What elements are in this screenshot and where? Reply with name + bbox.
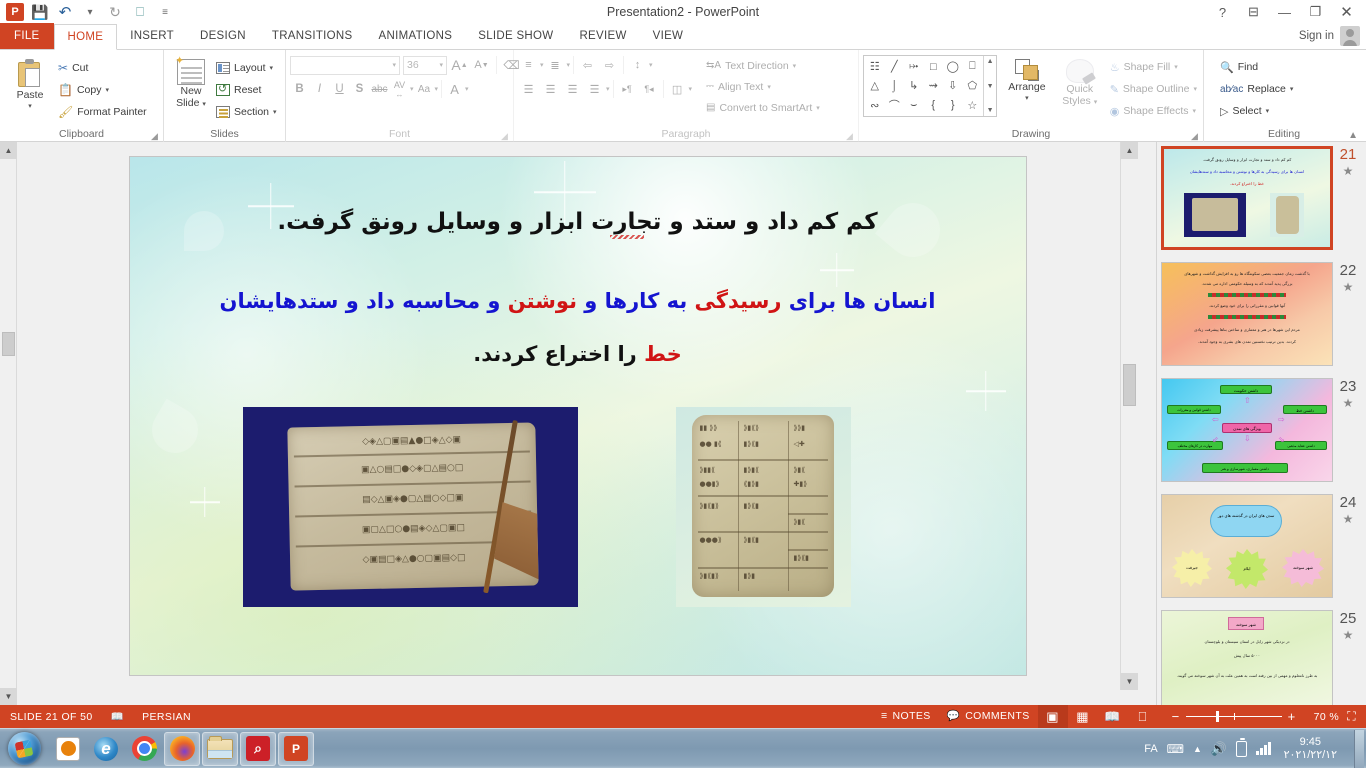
minimize-icon[interactable]: —	[1269, 1, 1300, 23]
thumb23-box-6: داشتن معماری، شهرسازی و هنر	[1202, 463, 1288, 473]
font-color-dropdown-icon[interactable]: ▾	[465, 85, 469, 93]
tab-home[interactable]: HOME	[54, 24, 118, 50]
comments-button[interactable]: 💬 COMMENTS	[939, 705, 1038, 728]
thumb23-arrow-left: ⇦	[1212, 415, 1219, 424]
slide-canvas[interactable]: کم کم داد و ستد و تجارت ابزار و وسایل رو…	[130, 157, 1026, 675]
taskbar-items: e ⌕ P	[50, 732, 314, 766]
character-spacing-dropdown-icon[interactable]: ▾	[410, 85, 414, 93]
oval-shape-icon[interactable]: ◯	[947, 60, 959, 73]
align-text-dropdown-icon[interactable]: ▾	[767, 83, 771, 91]
drawing-label-text: Drawing	[1012, 128, 1051, 140]
sign-in-area[interactable]: Sign in	[1299, 26, 1366, 49]
comments-label: COMMENTS	[965, 705, 1029, 728]
convert-smartart-label: Convert to SmartArt	[719, 102, 812, 114]
paste-label: Paste	[17, 89, 44, 101]
spellcheck-error-icon[interactable]: 📖	[111, 710, 124, 723]
line2-part-c: و محاسبه داد و ستدهایشان	[220, 289, 508, 313]
shape-fill-label: Shape Fill	[1124, 61, 1171, 73]
text-direction-icon: ⇆A	[706, 60, 721, 71]
quick-styles-label-2-row: Styles ▾	[1062, 95, 1097, 109]
layout-icon	[216, 62, 230, 74]
thumb22-line-2: بزرگی پدید آمدند که به وسیله حکومتی ادار…	[1165, 281, 1329, 287]
close-icon[interactable]: ✕	[1331, 1, 1362, 23]
slide-area-scrollbar[interactable]: ▲ ▼	[1120, 142, 1137, 690]
tray-battery-icon[interactable]	[1236, 741, 1247, 757]
paste-dropdown-icon[interactable]: ▾	[28, 101, 32, 113]
zoom-out-button[interactable]: −	[1166, 710, 1186, 723]
thumbnail-frame[interactable]: کم کم داد و ستد و تجارت ابزار و وسایل رو…	[1161, 146, 1333, 250]
bullets-dropdown-icon[interactable]: ▾	[540, 61, 544, 69]
thumb21-line-1: کم کم داد و ستد و تجارت ابزار و وسایل رو…	[1167, 157, 1327, 163]
layout-button[interactable]: Layout ▾	[214, 57, 279, 79]
drawing-dialog-launcher-icon[interactable]: ◢	[1190, 132, 1199, 141]
section-label: Section	[234, 106, 269, 118]
slide-text-body[interactable]: کم کم داد و ستد و تجارت ابزار و وسایل رو…	[164, 205, 992, 371]
layout-label: Layout	[234, 62, 266, 74]
shapes-gallery-scrollbar[interactable]: ▲ ▼ ▼	[983, 56, 996, 116]
thumbnail-23-number: 23	[1340, 378, 1357, 395]
font-size-dropdown-icon[interactable]: ▾	[439, 61, 443, 69]
paintbrush-icon: 🖌	[58, 106, 73, 118]
new-slide-button[interactable]: ✦ New Slide ▾	[168, 53, 214, 111]
slide-line-1: کم کم داد و ستد و تجارت ابزار و وسایل رو…	[164, 205, 992, 240]
thumb25-line-1: در نزدیکی شهر زابل در استان سیستان و بلو…	[1165, 639, 1329, 645]
taskbar-adobe-reader-icon[interactable]: ⌕	[240, 732, 276, 766]
font-name-input[interactable]: ▾	[290, 56, 400, 75]
slide-line-2: انسان ها برای رسیدگی به کارها و نوشتن و …	[164, 286, 992, 318]
scribble-shape-icon[interactable]: ∾	[870, 99, 879, 112]
spelling-squiggle	[610, 235, 644, 239]
decrease-indent-icon[interactable]: ⇦	[577, 55, 598, 75]
ribbon-group-font: ▾ 36 ▾ A▲ A▼ ⌫ B I U S abc	[286, 50, 514, 142]
normal-view-icon[interactable]: ▣	[1038, 705, 1068, 728]
thumb25-line-3: به طرز نامعلوم و مهمی از بین رفته است به…	[1165, 673, 1329, 679]
slides-label-text: Slides	[210, 128, 239, 140]
window-title: Presentation2 - PowerPoint	[0, 0, 1366, 24]
ribbon-display-options-icon[interactable]: ⊟	[1238, 1, 1269, 23]
thumbnail-25-number: 25	[1340, 610, 1357, 627]
shape-outline-dropdown-icon[interactable]: ▾	[1193, 85, 1197, 93]
underline-button[interactable]: U	[330, 79, 349, 99]
slide-editing-area[interactable]: کم کم داد و ستد و تجارت ابزار و وسایل رو…	[18, 142, 1137, 690]
smartart-dropdown-icon[interactable]: ▾	[816, 104, 820, 112]
show-desktop-button[interactable]	[1354, 730, 1364, 768]
reset-label: Reset	[234, 84, 261, 96]
arrange-label: Arrange	[1008, 81, 1045, 93]
tab-file[interactable]: FILE	[0, 23, 54, 49]
tab-transitions[interactable]: TRANSITIONS	[259, 24, 366, 49]
quick-styles-label-2: Styles	[1062, 95, 1091, 107]
shape-outline-icon: ✎	[1110, 83, 1119, 96]
system-tray: FA ⌨ ▲ 🔊 9:45 ۲۰۲۱/۲۲/۱۲	[1144, 730, 1366, 768]
star-shape-icon[interactable]: ☆	[967, 99, 977, 112]
slide-counter[interactable]: SLIDE 21 OF 50	[10, 711, 93, 723]
line2-red-word-2: نوشتن	[508, 289, 577, 313]
thumb22-line-3: آنها قوانین و مقرراتی را برای خود وضع کر…	[1165, 303, 1329, 309]
arrange-icon	[1015, 59, 1039, 81]
tab-slide-show[interactable]: SLIDE SHOW	[465, 24, 566, 49]
line3-rest: را اختراع کردند.	[473, 342, 644, 366]
justify-dropdown-icon[interactable]: ▾	[606, 85, 610, 93]
character-spacing-button[interactable]: AV ↔	[390, 79, 409, 99]
font-dialog-launcher-icon[interactable]: ◢	[500, 132, 509, 141]
shapes-gallery[interactable]: ☷ ╱ ⤠ □ ◯ ⎕ △ ⌡ ↳ ⇝ ⇩ ⬠ ∾ ⌒ ⌣	[863, 55, 997, 117]
slide-scroll-down-icon[interactable]: ▼	[1121, 673, 1138, 690]
thumbnail-slide-21[interactable]: کم کم داد و ستد و تجارت ابزار و وسایل رو…	[1161, 146, 1361, 250]
cut-label: Cut	[72, 62, 88, 74]
help-icon[interactable]: ?	[1207, 1, 1238, 23]
thumb24-cloud: تمدن های ایران در گذشته های دور	[1210, 505, 1282, 537]
shape-outline-label: Shape Outline	[1123, 83, 1190, 95]
tab-insert[interactable]: INSERT	[117, 24, 187, 49]
language-indicator[interactable]: PERSIAN	[142, 711, 191, 723]
binoculars-icon: 🔍	[1220, 61, 1234, 74]
ribbon-group-clipboard: Paste ▾ ✂ Cut 📋 Copy ▾ 🖌 Format	[0, 50, 164, 142]
font-size-input[interactable]: 36 ▾	[403, 56, 447, 75]
shapes-scroll-down-icon[interactable]: ▼	[987, 83, 994, 90]
align-text-icon: ⎓	[706, 81, 714, 92]
decrease-font-size-button[interactable]: A▼	[472, 55, 491, 75]
convert-to-smartart-button[interactable]: ▤ Convert to SmartArt ▾	[706, 97, 854, 118]
columns-icon[interactable]: ◫	[667, 79, 688, 99]
cuneiform-tablet-artwork: ▮▮ ⟫⟫ ⟫▮⟪⟫ ⟫⟫▮ ●● ▮⟪ ▮⟫⟪▮ ◁✚ ⟫▮▮⟪ ▮⟫▮⟪ ⟫…	[692, 415, 834, 597]
align-left-icon[interactable]: ☰	[518, 79, 539, 99]
columns-dropdown-icon[interactable]: ▾	[689, 85, 693, 93]
thumbnail-slide-24[interactable]: تمدن های ایران در گذشته های دور جیرفت ای…	[1161, 494, 1361, 598]
zoom-handle[interactable]	[1216, 711, 1220, 722]
start-orb-icon	[8, 732, 41, 765]
align-right-icon[interactable]: ☰	[562, 79, 583, 99]
replace-dropdown-icon[interactable]: ▾	[1290, 85, 1294, 93]
shapes-scroll-up-icon[interactable]: ▲	[987, 58, 994, 65]
sign-in-label: Sign in	[1299, 30, 1334, 42]
thumbnail-22-meta: 22 ★	[1337, 262, 1359, 295]
rectangle-shape-icon[interactable]: □	[930, 61, 937, 73]
notes-button[interactable]: ≡ NOTES	[873, 705, 939, 728]
restore-icon[interactable]: ❐	[1300, 1, 1331, 23]
ribbon-group-drawing: ☷ ╱ ⤠ □ ◯ ⎕ △ ⌡ ↳ ⇝ ⇩ ⬠ ∾ ⌒ ⌣	[859, 50, 1204, 142]
customize-qat-icon[interactable]: ≡	[154, 2, 176, 22]
smartart-icon: ▤	[706, 102, 715, 113]
start-button[interactable]	[2, 730, 46, 768]
cursor-icon: ▷	[1220, 105, 1228, 118]
line-spacing-dropdown-icon[interactable]: ▾	[649, 61, 653, 69]
collapse-ribbon-icon[interactable]: ▲	[1348, 130, 1358, 141]
reading-view-icon[interactable]: 📖	[1098, 705, 1128, 728]
arrange-button[interactable]: Arrange ▾	[1002, 53, 1052, 105]
thumb23-box-center: ویژگی های تمدن	[1222, 423, 1272, 433]
thumbnail-21-animation-star: ★	[1337, 164, 1359, 179]
copy-button[interactable]: 📋 Copy ▾	[56, 79, 149, 101]
shape-fill-button[interactable]: ♨ Shape Fill ▾	[1108, 56, 1199, 78]
bullets-icon[interactable]: ≡	[518, 55, 539, 75]
thumb23-arrow-dl: ⇙	[1212, 435, 1219, 444]
replace-button[interactable]: ab⁄ac Replace ▾	[1218, 78, 1295, 100]
left-scrollbar[interactable]: ▲ ▼	[0, 142, 17, 705]
windows-taskbar: e ⌕ P FA ⌨ ▲ 🔊	[0, 728, 1366, 768]
textbox-shape-icon[interactable]: ☷	[870, 60, 880, 73]
clipboard-dialog-launcher-icon[interactable]: ◢	[150, 132, 159, 141]
shape-fill-dropdown-icon[interactable]: ▾	[1174, 63, 1178, 71]
thumb23-box-2: داشتن قوانین و مقررات	[1167, 405, 1221, 414]
slide-sorter-icon[interactable]: ▦	[1068, 705, 1098, 728]
left-brace-shape-icon[interactable]: {	[931, 99, 935, 111]
start-slideshow-icon[interactable]: ⎕	[129, 2, 151, 22]
align-text-label: Align Text	[718, 81, 763, 93]
slide-scrollbar-thumb[interactable]	[1123, 364, 1136, 406]
triangle-shape-icon[interactable]: △	[871, 79, 879, 92]
tray-date: ۲۰۲۱/۲۲/۱۲	[1284, 749, 1337, 762]
taskbar-file-explorer-icon[interactable]	[202, 732, 238, 766]
taskbar-powerpoint-icon[interactable]: P	[278, 732, 314, 766]
clipboard-label-text: Clipboard	[59, 128, 104, 140]
find-label: Find	[1238, 61, 1258, 73]
replace-icon: ab⁄ac	[1220, 84, 1243, 95]
zoom-in-button[interactable]: +	[1282, 710, 1302, 723]
tray-volume-icon[interactable]: 🔊	[1211, 741, 1227, 757]
increase-font-size-button[interactable]: A▲	[450, 55, 469, 75]
text-direction-dropdown-icon[interactable]: ▾	[793, 62, 797, 70]
replace-label: Replace	[1247, 83, 1286, 95]
account-avatar-icon[interactable]	[1340, 26, 1360, 46]
window-controls: ? ⊟ — ❐ ✕	[1207, 1, 1366, 23]
shape-effects-button[interactable]: ◉ Shape Effects ▾	[1108, 100, 1199, 122]
zoom-slider[interactable]: − +	[1158, 710, 1310, 723]
ribbon-group-slides: ✦ New Slide ▾ Layout ▾ Reset	[164, 50, 286, 142]
copy-label: Copy	[77, 84, 102, 96]
slide-line-3: خط را اختراع کردند.	[164, 339, 992, 371]
new-slide-label-1: New	[180, 85, 201, 97]
elbow-connector-icon[interactable]: ⌡	[891, 80, 898, 92]
align-center-icon[interactable]: ☰	[540, 79, 561, 99]
copy-icon: 📋	[58, 84, 73, 96]
paragraph-label-text: Paragraph	[661, 128, 710, 140]
slide-scroll-up-icon[interactable]: ▲	[1121, 142, 1138, 159]
slide-thumbnail-pane[interactable]: کم کم داد و ستد و تجارت ابزار و وسایل رو…	[1156, 142, 1366, 705]
section-button[interactable]: Section ▾	[214, 101, 279, 123]
new-slide-label-2-row: Slide ▾	[176, 97, 206, 111]
slide-image-proto-elamite-tablet[interactable]: ◇◈△▢▣▤▲●□◈△◇▣ ▣△○▤□●◇◈▢△▤○□ ▤◇△▣◈●▢△▤○◇□…	[243, 407, 578, 607]
thumbnail-slide-22[interactable]: با گذشت زمان جمعیت بعضی سکونتگاه ها رو ب…	[1161, 262, 1361, 366]
elbow-arrow-connector-icon[interactable]: ↳	[909, 79, 918, 92]
layout-dropdown-icon[interactable]: ▾	[270, 64, 274, 72]
tray-show-hidden-icons-icon[interactable]: ▲	[1193, 744, 1202, 754]
change-case-dropdown-icon[interactable]: ▾	[435, 85, 439, 93]
shape-effects-label: Shape Effects	[1123, 105, 1188, 117]
section-dropdown-icon[interactable]: ▾	[273, 108, 277, 116]
thumb23-box-1: داشتن حکومت	[1220, 385, 1272, 394]
text-shadow-button[interactable]: S	[350, 79, 369, 99]
justify-icon[interactable]: ☰	[584, 79, 605, 99]
find-button[interactable]: 🔍 Find	[1218, 56, 1295, 78]
clipboard-group-label: Clipboard ◢	[0, 127, 163, 142]
bold-button[interactable]: B	[290, 79, 309, 99]
thumb23-arrow-dr: ⇘	[1278, 435, 1285, 444]
new-slide-label-2: Slide	[176, 97, 199, 109]
shape-effects-dropdown-icon[interactable]: ▾	[1193, 107, 1197, 115]
thumbnail-21-number: 21	[1340, 146, 1357, 163]
format-painter-button[interactable]: 🖌 Format Painter	[56, 101, 149, 123]
quick-styles-button[interactable]: Quick Styles ▾	[1057, 53, 1103, 109]
zoom-track[interactable]	[1186, 716, 1282, 718]
thumbnail-22-number: 22	[1340, 262, 1357, 279]
increase-indent-icon[interactable]: ⇨	[599, 55, 620, 75]
thumbnail-frame[interactable]: تمدن های ایران در گذشته های دور جیرفت ای…	[1161, 494, 1333, 598]
left-scroll-down-icon[interactable]: ▼	[0, 688, 17, 705]
arrange-dropdown-icon[interactable]: ▾	[1025, 93, 1029, 105]
strikethrough-button[interactable]: abc	[370, 79, 389, 99]
thumb23-arrow-up: ⇧	[1244, 396, 1251, 405]
thumbnail-25-meta: 25 ★	[1337, 610, 1359, 643]
paragraph-group-label: Paragraph ◢	[514, 127, 858, 142]
thumbnail-24-animation-star: ★	[1337, 512, 1359, 527]
thumbnail-frame[interactable]: شهر سوخته در نزدیکی شهر زابل در استان سی…	[1161, 610, 1333, 705]
paste-icon	[17, 59, 43, 89]
select-label: Select	[1232, 105, 1261, 117]
line2-part-b: به کارها و	[577, 289, 695, 313]
select-dropdown-icon[interactable]: ▾	[1266, 107, 1270, 115]
ribbon: Paste ▾ ✂ Cut 📋 Copy ▾ 🖌 Format	[0, 50, 1366, 142]
font-color-button[interactable]: A	[445, 79, 464, 99]
reset-icon	[216, 84, 230, 96]
thumb22-line-1: با گذشت زمان جمعیت بعضی سکونتگاه ها رو ب…	[1165, 271, 1329, 277]
font-label-text: Font	[389, 128, 410, 140]
taskbar-google-chrome-icon[interactable]	[126, 732, 162, 766]
undo-dropdown-icon[interactable]: ▾	[79, 2, 101, 22]
quick-access-toolbar: P 💾 ↶ ▾ ↻ ⎕ ≡	[0, 2, 176, 22]
paste-button[interactable]: Paste ▾	[4, 53, 56, 113]
editing-group-label: Editing	[1204, 127, 1364, 142]
thumb23-box-3: داشتن خط	[1283, 405, 1327, 414]
quick-styles-icon	[1066, 59, 1094, 83]
tab-review[interactable]: REVIEW	[566, 24, 639, 49]
shapes-more-icon[interactable]: ▼	[987, 107, 994, 114]
comment-bubble-icon: 💬	[947, 705, 960, 728]
right-to-left-icon[interactable]: ¶◂	[639, 79, 660, 99]
numbering-dropdown-icon[interactable]: ▾	[567, 61, 571, 69]
paragraph-dialog-launcher-icon[interactable]: ◢	[845, 132, 854, 141]
right-brace-shape-icon[interactable]: }	[951, 99, 955, 111]
change-case-button[interactable]: Aa	[415, 79, 434, 99]
format-painter-label: Format Painter	[77, 106, 146, 118]
taskbar-firefox-icon[interactable]	[164, 732, 200, 766]
down-arrow-shape-icon[interactable]: ⇩	[948, 79, 957, 92]
shape-fill-icon: ♨	[1110, 61, 1120, 74]
right-arrow-shape-icon[interactable]: ⇝	[929, 79, 938, 92]
quick-styles-dropdown-icon[interactable]: ▾	[1094, 99, 1098, 106]
shape-effects-icon: ◉	[1110, 105, 1120, 118]
ribbon-tab-bar: FILE HOME INSERT DESIGN TRANSITIONS ANIM…	[0, 24, 1366, 50]
thumbnail-21-meta: 21 ★	[1337, 146, 1359, 179]
thumb21-line-3: خط را اختراع کردند.	[1167, 181, 1327, 187]
scissors-icon: ✂	[58, 62, 68, 74]
thumb21-line-2: انسان ها برای رسیدگی به کارها و نوشتن و …	[1167, 169, 1327, 175]
taskbar-internet-explorer-icon[interactable]: e	[88, 732, 124, 766]
line2-part-a: انسان ها برای	[781, 289, 935, 313]
tray-time: 9:45	[1284, 736, 1337, 749]
align-text-button[interactable]: ⎓ Align Text ▾	[706, 76, 854, 97]
undo-icon[interactable]: ↶	[54, 2, 76, 22]
quick-styles-label-1: Quick	[1066, 83, 1093, 95]
save-icon[interactable]: 💾	[29, 2, 51, 22]
copy-dropdown-icon[interactable]: ▾	[105, 86, 109, 94]
cut-button[interactable]: ✂ Cut	[56, 57, 149, 79]
thumb25-flag: شهر سوخته	[1228, 617, 1264, 630]
numbering-icon[interactable]: ≣	[545, 55, 566, 75]
notes-icon: ≡	[881, 705, 888, 728]
arrow-shape-icon[interactable]: ⤠	[909, 60, 918, 73]
shape-outline-button[interactable]: ✎ Shape Outline ▾	[1108, 78, 1199, 100]
tray-clock[interactable]: 9:45 ۲۰۲۱/۲۲/۱۲	[1280, 736, 1341, 762]
fit-slide-to-window-icon[interactable]: ⛶	[1347, 709, 1360, 724]
curve-shape-icon[interactable]: ⌒	[889, 97, 900, 113]
powerpoint-application-window: P 💾 ↶ ▾ ↻ ⎕ ≡ Presentation2 - PowerPoint…	[0, 0, 1366, 768]
rounded-rectangle-shape-icon[interactable]: ⎕	[969, 60, 976, 73]
text-direction-label: Text Direction	[725, 60, 789, 72]
line-shape-icon[interactable]: ╱	[891, 60, 898, 73]
new-slide-dropdown-icon[interactable]: ▾	[202, 101, 206, 108]
thumbnail-slide-25[interactable]: شهر سوخته در نزدیکی شهر زابل در استان سی…	[1161, 610, 1361, 705]
clay-tablet-artwork: ◇◈△▢▣▤▲●□◈△◇▣ ▣△○▤□●◇◈▢△▤○□ ▤◇△▣◈●▢△▤○◇□…	[287, 422, 538, 590]
thumb25-line-2: ۵۰۰۰ سال پیش	[1165, 653, 1329, 659]
thumb21-image-1	[1184, 193, 1246, 237]
text-direction-button[interactable]: ⇆A Text Direction ▾	[706, 55, 854, 76]
tray-keyboard-icon[interactable]: ⌨	[1167, 742, 1184, 756]
thumb22-line-5: کردند. بدین ترتیب نخستین تمدن های بشری ب…	[1165, 339, 1329, 345]
tray-language-indicator[interactable]: FA	[1144, 743, 1157, 755]
pentagon-shape-icon[interactable]: ⬠	[967, 79, 977, 92]
notes-label: NOTES	[893, 705, 931, 728]
thumbnail-25-animation-star: ★	[1337, 628, 1359, 643]
thumbnail-frame[interactable]: داشتن حکومت داشتن قوانین و مقررات داشتن …	[1161, 378, 1333, 482]
drawing-group-label: Drawing ◢	[859, 127, 1203, 142]
powerpoint-logo-icon: P	[4, 2, 26, 22]
thumbnail-frame[interactable]: با گذشت زمان جمعیت بعضی سکونتگاه ها رو ب…	[1161, 262, 1333, 366]
thumbnail-24-number: 24	[1340, 494, 1357, 511]
thumb23-arrow-right: ⇨	[1278, 415, 1285, 424]
thumbnail-23-animation-star: ★	[1337, 396, 1359, 411]
left-scrollbar-thumb[interactable]	[2, 332, 15, 356]
new-slide-icon: ✦	[177, 59, 205, 85]
font-size-value: 36	[407, 59, 419, 71]
slides-group-label: Slides	[164, 127, 285, 142]
font-name-dropdown-icon[interactable]: ▾	[392, 61, 396, 69]
redo-icon[interactable]: ↻	[104, 2, 126, 22]
select-button[interactable]: ▷ Select ▾	[1218, 100, 1295, 122]
tab-animations[interactable]: ANIMATIONS	[366, 24, 466, 49]
status-bar: SLIDE 21 OF 50 📖 PERSIAN ≡ NOTES 💬 COMME…	[0, 705, 1366, 728]
left-to-right-icon[interactable]: ▸¶	[617, 79, 638, 99]
tab-view[interactable]: VIEW	[640, 24, 697, 49]
thumbnail-slide-23[interactable]: داشتن حکومت داشتن قوانین و مقررات داشتن …	[1161, 378, 1361, 482]
section-icon	[216, 106, 230, 118]
slideshow-view-icon[interactable]: ⎕	[1128, 705, 1158, 728]
reset-button[interactable]: Reset	[214, 79, 279, 101]
slide-image-cuneiform-tablet[interactable]: ▮▮ ⟫⟫ ⟫▮⟪⟫ ⟫⟫▮ ●● ▮⟪ ▮⟫⟪▮ ◁✚ ⟫▮▮⟪ ▮⟫▮⟪ ⟫…	[676, 407, 851, 607]
shapes-grid: ☷ ╱ ⤠ □ ◯ ⎕ △ ⌡ ↳ ⇝ ⇩ ⬠ ∾ ⌒ ⌣	[864, 56, 983, 116]
italic-button[interactable]: I	[310, 79, 329, 99]
font-group-label: Font ◢	[286, 127, 513, 142]
arc-shape-icon[interactable]: ⌣	[910, 99, 917, 112]
line3-red-word: خط	[644, 342, 682, 366]
tray-network-signal-icon[interactable]	[1256, 742, 1271, 755]
tab-design[interactable]: DESIGN	[187, 24, 259, 49]
taskbar-windows-media-player-icon[interactable]	[50, 732, 86, 766]
line-spacing-icon[interactable]: ↕	[627, 55, 648, 75]
left-scroll-up-icon[interactable]: ▲	[0, 142, 17, 159]
line2-red-word-1: رسیدگی	[695, 289, 782, 313]
zoom-level-label[interactable]: 70 %	[1310, 711, 1348, 723]
